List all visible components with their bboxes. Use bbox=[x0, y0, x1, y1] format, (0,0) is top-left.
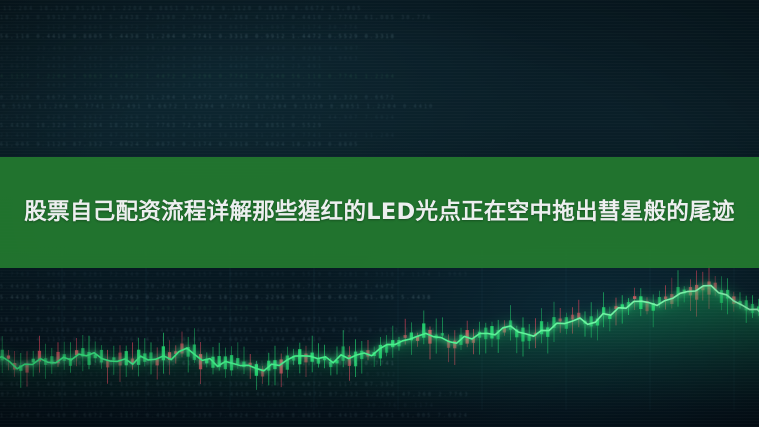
title-band-inner: 股票自己配资流程详解那些猩红的LED光点正在空中拖出彗星般的尾迹 bbox=[14, 195, 745, 230]
banner-image: 11,204 18,329 95,613 1.2204 8.8851 30,77… bbox=[0, 0, 759, 427]
data-fog-row: 11,204 0.8805 18,329 1.2204 87,332 61,00… bbox=[0, 361, 759, 367]
data-fog-row: 1.9063 56,118 1.9063 5.4438 0.2296 0.667… bbox=[0, 350, 759, 356]
data-fog-row: 1.2204 0.4410 0.6672 4.1157 0.4410 2.339… bbox=[0, 413, 759, 419]
data-fog-row: 5.4438 56,118 23,491 2.7763 0.2296 30,77… bbox=[0, 295, 759, 301]
data-fog-row: 44,907 72,540 87,332 8.8851 1.4472 0.441… bbox=[0, 328, 759, 334]
title-banner-band: 股票自己配资流程详解那些猩红的LED光点正在空中拖出彗星般的尾迹 bbox=[0, 157, 759, 268]
data-fog-row: 18,329 0.9912 0.9912 0.3318 0.9912 0.552… bbox=[0, 317, 759, 323]
data-fog-row: 2.7763 1.9063 0.0281 72,540 7.6024 4.115… bbox=[0, 272, 759, 278]
data-fog-row: 2.7763 61,005 95,613 47,268 8.8851 8.885… bbox=[0, 372, 759, 378]
data-fog-row: 8.8851 4.1157 0.1174 2.7763 4.1157 8.885… bbox=[0, 337, 759, 343]
page-title: 股票自己配资流程详解那些猩红的LED光点正在空中拖出彗星般的尾迹 bbox=[14, 195, 745, 230]
data-fog-row: 1.2204 2.7763 2.3390 11,204 23,491 44,90… bbox=[0, 306, 759, 312]
data-fog-row: 87,332 11,204 4.1157 0.8805 4.1157 0.880… bbox=[0, 392, 759, 398]
data-fog-row: 0.6672 5.4438 4.1157 4.1157 0.6672 61,00… bbox=[0, 382, 759, 388]
data-fog-row: 4.1157 0.5529 9.1120 9.1120 0.5529 1.906… bbox=[0, 403, 759, 409]
data-fog-row: 5.4438 5.4438 72,540 95,613 30,776 23,49… bbox=[0, 284, 759, 290]
